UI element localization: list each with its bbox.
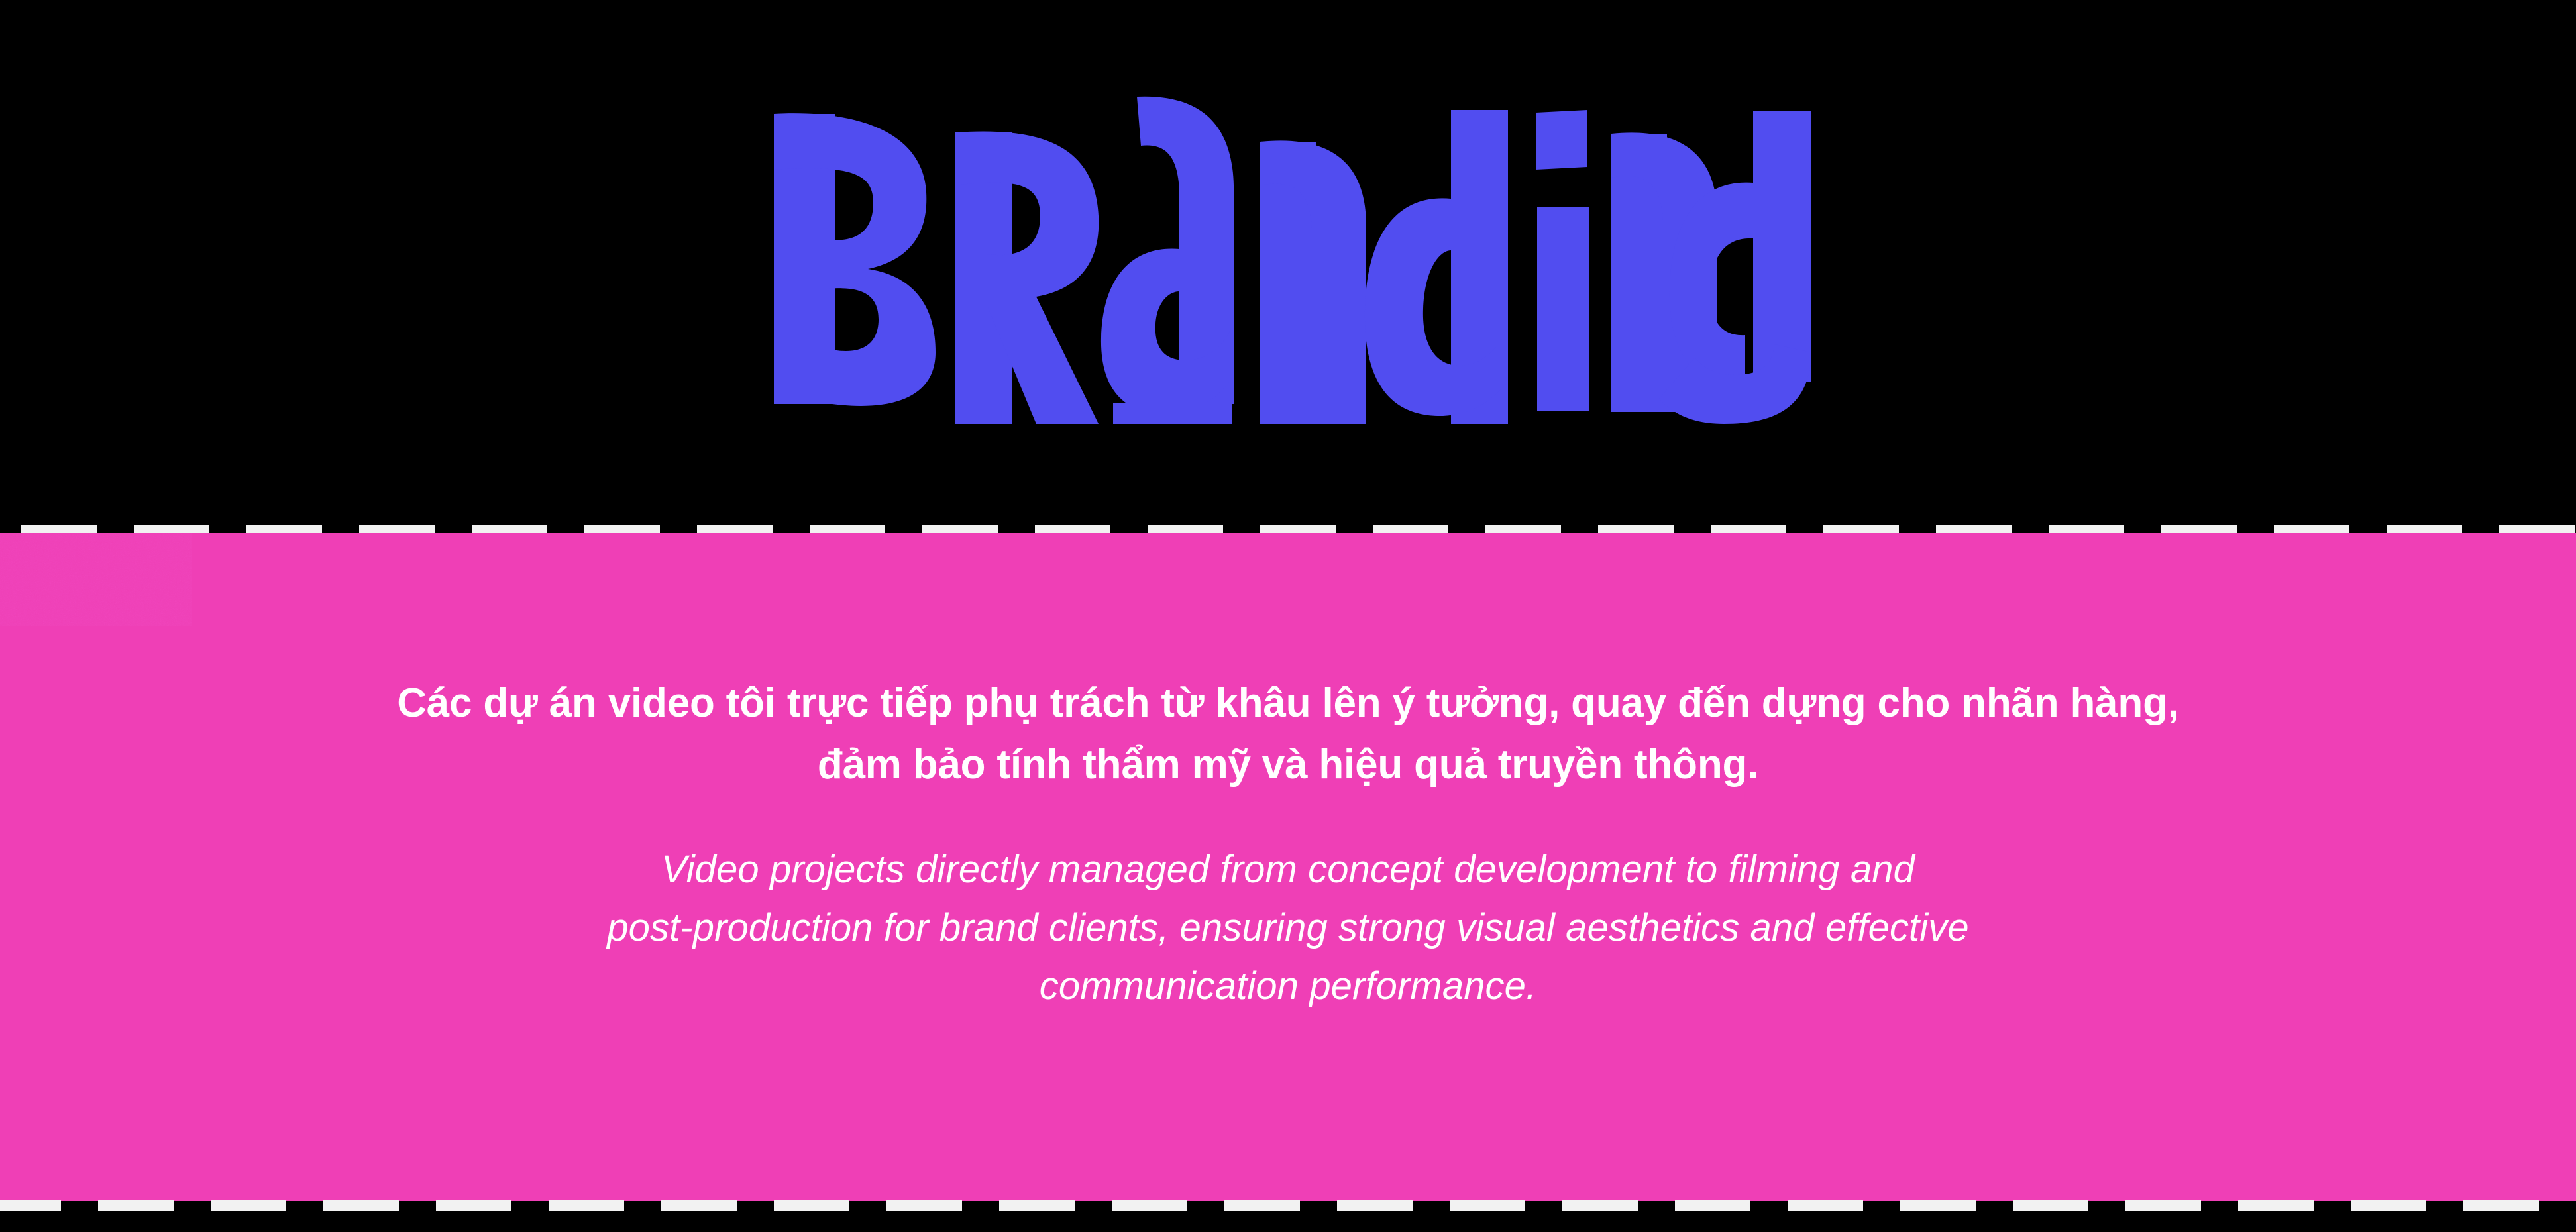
english-line-3: communication performance.	[1040, 964, 1536, 1007]
divider-dash	[323, 1200, 399, 1211]
divider-dash	[1562, 1200, 1638, 1211]
divider-dash	[2351, 1200, 2426, 1211]
divider-dash	[2463, 1200, 2539, 1211]
divider-dash	[1224, 1200, 1300, 1211]
divider-dash	[1112, 1200, 1187, 1211]
divider-dash	[774, 1200, 849, 1211]
description-pink-band: Các dự án video tôi trực tiếp phụ trách …	[0, 533, 2576, 1201]
divider-dash	[886, 1200, 962, 1211]
divider-dash	[1675, 1200, 1750, 1211]
divider-dash	[2125, 1200, 2201, 1211]
vietnamese-line-1: Các dự án video tôi trực tiếp phụ trách …	[397, 680, 2179, 726]
divider-dash	[211, 1200, 286, 1211]
divider-dash	[1337, 1200, 1413, 1211]
hero-black-panel	[0, 0, 2576, 525]
vietnamese-description: Các dự án video tôi trực tiếp phụ trách …	[191, 672, 2385, 796]
dashed-divider-bottom	[0, 1200, 2576, 1211]
grain-texture-overlay	[0, 533, 192, 626]
divider-dash	[2013, 1200, 2088, 1211]
vietnamese-line-2: đảm bảo tính thẩm mỹ và hiệu quả truyền …	[818, 742, 1758, 788]
page-title	[769, 93, 1815, 424]
divider-dash	[1900, 1200, 1976, 1211]
divider-dash	[1788, 1200, 1863, 1211]
divider-dash	[98, 1200, 174, 1211]
description-content: Các dự án video tôi trực tiếp phụ trách …	[191, 533, 2385, 1015]
divider-dash	[549, 1200, 624, 1211]
divider-dash	[0, 1200, 61, 1211]
branding-section-page: Các dự án video tôi trực tiếp phụ trách …	[0, 0, 2576, 1232]
footer-black-strip	[0, 1211, 2576, 1232]
english-line-2: post-production for brand clients, ensur…	[607, 906, 1968, 949]
divider-dash	[1450, 1200, 1525, 1211]
english-line-1: Video projects directly managed from con…	[661, 848, 1915, 891]
divider-dash	[661, 1200, 737, 1211]
divider-dash	[999, 1200, 1075, 1211]
divider-dash	[2238, 1200, 2314, 1211]
english-description: Video projects directly managed from con…	[307, 841, 2269, 1015]
divider-dash	[436, 1200, 511, 1211]
branding-wordmark-icon	[769, 93, 1815, 424]
